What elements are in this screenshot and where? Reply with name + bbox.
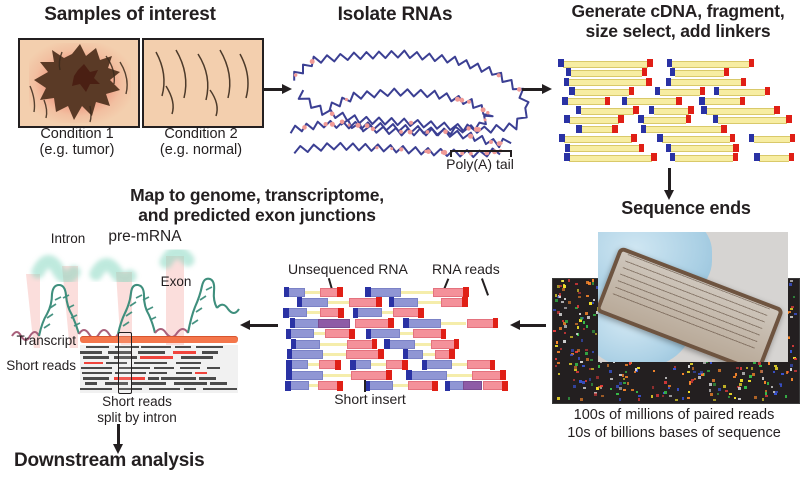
linker-left (670, 153, 676, 161)
rna-base-accent (443, 129, 448, 134)
cdna-fragment (622, 97, 682, 105)
adapter-left (297, 297, 303, 307)
sequencing-cluster-dot (675, 399, 678, 402)
unsequenced-insert (323, 374, 351, 377)
sequencing-cluster-dot (673, 368, 676, 371)
linker-right (651, 153, 657, 161)
sequencing-cluster-dot (607, 364, 610, 367)
sequencing-cluster-dot (557, 362, 560, 365)
skin-hairs-icon (144, 40, 262, 126)
linker-left (566, 68, 572, 76)
sequencing-cluster-dot (577, 305, 580, 308)
paired-read-short-insert (445, 381, 508, 391)
sequencing-cluster-dot (593, 299, 596, 302)
cdna-body (718, 117, 787, 124)
sequencing-cluster-dot (601, 395, 604, 398)
aligned-read-junction (140, 356, 172, 358)
sequencing-cluster-dot (689, 381, 692, 384)
unsequenced-insert (309, 384, 318, 387)
rna-base-accent (408, 130, 412, 134)
read-forward (392, 298, 419, 307)
cdna-fragment (564, 78, 652, 86)
sequencing-cluster-dot (753, 362, 756, 365)
cdna-body (675, 155, 734, 162)
linker-left (649, 106, 655, 114)
sequencing-cluster-dot (754, 396, 757, 399)
arrow-isolate-to-cdna (522, 84, 552, 95)
sequencing-cluster-dot (589, 302, 592, 305)
sequencing-cluster-dot (793, 296, 796, 299)
unsequenced-insert (382, 311, 393, 314)
sequencing-cluster-dot (577, 349, 580, 352)
sequencing-cluster-dot (568, 397, 571, 400)
sequencing-cluster-dot (623, 382, 626, 385)
rna-base-accent (484, 118, 487, 121)
aligned-read (86, 346, 109, 348)
condition-1-detail: (e.g. tumor) (40, 142, 115, 158)
aligned-read (180, 367, 200, 369)
condition-2-name: Condition 2 (164, 126, 237, 142)
sequencing-cluster-dot (585, 349, 588, 352)
linker-right (733, 144, 739, 152)
sequencing-cluster-dot (559, 313, 562, 316)
adapter-right (337, 381, 343, 391)
map-to-genome-heading: Map to genome, transcriptome, and predic… (96, 186, 418, 225)
rna-base-accent (399, 147, 403, 151)
paired-read (284, 287, 343, 297)
rna-base-accent (517, 87, 522, 92)
adapter-left (287, 349, 293, 359)
adapter-left (285, 381, 291, 391)
short-insert-leader-line (364, 380, 366, 392)
paired-read (286, 370, 392, 380)
linker-right (789, 153, 795, 161)
sequencing-cluster-dot (638, 398, 641, 401)
linker-right (774, 106, 780, 114)
cdna-body (704, 98, 740, 105)
sequencing-cluster-dot (693, 371, 696, 374)
adapter-left (366, 329, 372, 339)
cdna-fragment (754, 153, 794, 161)
cdna-body (706, 108, 775, 115)
condition-2-caption: Condition 2(e.g. normal) (138, 126, 264, 158)
sequencing-cluster-dot (652, 386, 655, 389)
unsequenced-insert (423, 353, 434, 356)
aligned-read (202, 351, 219, 353)
sequencing-cluster-dot (598, 365, 601, 368)
sequencing-cluster-dot (580, 361, 583, 364)
paired-read (350, 360, 408, 370)
read-reverse (472, 371, 502, 380)
rna-base-accent (340, 120, 345, 125)
sequencing-cluster-dot (771, 386, 774, 389)
sequencing-cluster-dot (609, 370, 612, 373)
sequencing-cluster-dot (773, 391, 776, 394)
unsequenced-insert (393, 384, 408, 387)
sequencing-cluster-dot (709, 389, 712, 392)
sequencing-cluster-dot (561, 280, 564, 283)
linker-left (562, 97, 568, 105)
sequencing-cluster-dot (717, 393, 720, 396)
sequencing-cluster-dot (710, 393, 713, 396)
cdna-body (581, 126, 612, 133)
linker-left (713, 115, 719, 123)
sequencing-cluster-dot (748, 380, 751, 383)
linker-right (786, 115, 792, 123)
aligned-read (184, 388, 196, 390)
linker-right (733, 153, 739, 161)
sequencing-cluster-dot (762, 377, 765, 380)
cdna-fragment (666, 78, 746, 86)
linker-left (714, 87, 720, 95)
adapter-right (490, 360, 496, 370)
linker-left (657, 134, 663, 142)
sequencing-cluster-dot (768, 362, 771, 365)
sequencing-cluster-dot (616, 385, 619, 388)
sequencing-cluster-dot (583, 387, 586, 390)
adapter-right (337, 287, 343, 297)
sequencing-cluster-dot (625, 371, 628, 374)
adapter-right (454, 339, 460, 349)
sequencing-cluster-dot (596, 376, 599, 379)
sequencing-cluster-dot (749, 375, 752, 378)
unsequenced-insert (401, 291, 433, 294)
adapter-right (372, 339, 378, 349)
adapter-left (286, 360, 292, 370)
read-forward (406, 350, 424, 359)
linker-left (701, 106, 707, 114)
rna-base-accent (375, 146, 378, 149)
aligned-read (176, 362, 202, 364)
adapter-right (493, 318, 499, 328)
condition-1-tissue-swatch (18, 38, 140, 128)
sequencing-cluster-dot (592, 282, 595, 285)
sequencing-cluster-dot (790, 316, 793, 319)
sequencing-cluster-dot (664, 381, 667, 384)
sequencing-cluster-dot (687, 397, 690, 400)
sequencing-cluster-dot (677, 388, 680, 391)
sequencing-cluster-dot (688, 365, 691, 368)
cdna-fragment (564, 115, 624, 123)
linker-left (576, 125, 582, 133)
adapter-left (384, 339, 390, 349)
sequencing-cluster-dot (583, 328, 586, 331)
rna-base-accent (356, 123, 361, 128)
read-reverse (325, 329, 351, 338)
unsequenced-insert (305, 291, 320, 294)
sequencing-cluster-dot (709, 383, 712, 386)
read-forward (294, 340, 321, 349)
sequencing-cluster-dot (562, 320, 565, 323)
linker-left (638, 115, 644, 123)
sequencing-cluster-dot (575, 323, 578, 326)
aligned-read (207, 367, 221, 369)
unsequenced-insert (320, 343, 347, 346)
sequencing-cluster-dot (569, 363, 572, 366)
aligned-read (175, 346, 190, 348)
sequencing-cluster-dot (564, 307, 567, 310)
sequencing-cluster-dot (700, 371, 703, 374)
sequencing-cluster-dot (751, 367, 754, 370)
sequencing-cluster-dot (575, 283, 578, 286)
paired-read (291, 339, 378, 349)
sequencing-cluster-dot (712, 379, 715, 382)
unsequenced-insert (314, 332, 326, 335)
adapter-left (291, 339, 297, 349)
rna-strands-illustration (284, 34, 544, 162)
rna-base-accent (455, 97, 460, 102)
polya-tail-label: Poly(A) tail (432, 157, 528, 173)
sequencing-cluster-dot (578, 357, 581, 360)
paired-reads-illustration (278, 286, 516, 392)
sequencing-cluster-dot (578, 296, 581, 299)
rna-base-accent (365, 123, 370, 128)
pre-mrna-label: pre-mRNA (92, 228, 198, 245)
cdna-fragment (562, 97, 610, 105)
cdna-fragment (670, 153, 739, 161)
sequencing-cluster-dot (781, 373, 784, 376)
read-forward (289, 360, 308, 369)
adapter-right (376, 297, 382, 307)
sequencing-cluster-dot (555, 299, 558, 302)
adapter-right (441, 329, 447, 339)
rna-strand (294, 51, 528, 133)
linker-right (676, 97, 682, 105)
adapter-left (365, 287, 371, 297)
aligned-read (82, 372, 113, 374)
read-reverse (431, 340, 456, 349)
adapter-right (463, 287, 469, 297)
linker-left (569, 87, 575, 95)
linker-right (612, 125, 618, 133)
read-forward (289, 371, 323, 380)
sequencing-cluster-dot (790, 280, 793, 283)
sequencing-cluster-dot (583, 321, 586, 324)
sequencing-cluster-dot (563, 284, 566, 287)
sequencing-cluster-dot (773, 371, 776, 374)
paired-read (285, 381, 343, 391)
intron-label: Intron (38, 231, 98, 246)
sequencing-cluster-dot (790, 368, 793, 371)
read-forward (406, 319, 441, 328)
linker-right (749, 59, 755, 67)
rna-base-accent (310, 59, 315, 64)
aligned-read (138, 351, 165, 353)
cdna-fragment (641, 125, 727, 133)
read-forward (387, 340, 414, 349)
sequencing-cluster-dot (581, 339, 584, 342)
sequencing-cluster-dot (592, 351, 595, 354)
rna-base-accent (481, 107, 486, 112)
aligned-read (80, 388, 112, 390)
sequencing-cluster-dot (610, 378, 613, 381)
samples-heading: Samples of interest (10, 4, 250, 25)
linker-left (564, 115, 570, 123)
adapter-right (418, 308, 424, 318)
linker-left (558, 59, 564, 67)
read-reverse (346, 350, 381, 359)
adapter-right (462, 297, 468, 307)
linker-left (559, 134, 565, 142)
sequencing-cluster-dot (738, 398, 741, 401)
cdna-fragment (576, 125, 617, 133)
sequencing-cluster-dot (746, 367, 749, 370)
cdna-body (672, 61, 750, 68)
sequencing-cluster-dot (589, 378, 592, 381)
adapter-left (350, 360, 356, 370)
paired-read (384, 339, 459, 349)
sequencing-cluster-dot (687, 371, 690, 374)
cdna-body (759, 155, 789, 162)
rna-base-accent (330, 122, 335, 127)
cdna-body (569, 79, 647, 86)
linker-right (629, 87, 635, 95)
read-reverse (349, 298, 379, 307)
linker-right (633, 106, 639, 114)
sequencing-cluster-dot (752, 373, 755, 376)
rna-base-accent (409, 121, 413, 125)
read-forward (353, 360, 371, 369)
aligned-read (149, 372, 168, 374)
sequencing-cluster-dot (692, 367, 695, 370)
sequencing-cluster-dot (564, 298, 567, 301)
sequencing-cluster-dot (760, 370, 763, 373)
rna-base-accent (497, 73, 501, 77)
rna-base-accent (302, 125, 307, 130)
cdna-fragment (699, 97, 745, 105)
adapter-right (502, 381, 508, 391)
exon-label: Exon (148, 274, 204, 289)
sequencing-cluster-dot (682, 373, 685, 376)
transcript-label: Transcript (2, 333, 76, 348)
aligned-read-junction (173, 351, 196, 353)
condition-2-detail: (e.g. normal) (160, 142, 242, 158)
cdna-body (571, 70, 643, 77)
linker-left (564, 153, 570, 161)
sequencing-cluster-dot (555, 345, 558, 348)
paired-read (422, 360, 495, 370)
aligned-read (196, 346, 223, 348)
adapter-left (353, 308, 359, 318)
aligned-read (174, 382, 206, 384)
short-reads-label: Short reads (2, 358, 76, 373)
read-forward (287, 288, 306, 297)
unsequenced-insert (308, 363, 319, 366)
linker-right (730, 134, 736, 142)
sequencing-cluster-dot (556, 341, 559, 344)
rna-base-accent (399, 130, 403, 134)
cdna-body (671, 145, 734, 152)
aligned-read (83, 377, 109, 379)
rna-base-accent (486, 111, 489, 114)
sequencing-cluster-dot (587, 316, 590, 319)
rna-base-accent (489, 140, 493, 144)
sequencing-cluster-dot (580, 317, 583, 320)
rna-base-accent (424, 150, 427, 153)
sequencing-cluster-dot (619, 398, 622, 401)
unsequenced-insert (415, 343, 432, 346)
rna-base-accent (474, 127, 479, 132)
sequencing-cluster-dot (740, 367, 743, 370)
sequencing-cluster-dot (794, 358, 797, 361)
linker-left (576, 106, 582, 114)
sequencing-cluster-dot (785, 395, 788, 398)
cdna-body (660, 89, 701, 96)
unsequenced-insert (447, 374, 473, 377)
sequencing-cluster-dot (634, 371, 637, 374)
sequencing-cluster-dot (589, 368, 592, 371)
sequencing-cluster-dot (553, 309, 556, 312)
flowcell-photograph (598, 232, 788, 362)
sequencing-cluster-dot (592, 302, 595, 305)
linker-right (605, 97, 611, 105)
sequencing-cluster-dot (738, 387, 741, 390)
aligned-read (83, 356, 109, 358)
sequencing-cluster-dot (765, 392, 768, 395)
sequencing-cluster-dot (557, 351, 560, 354)
linker-left (749, 134, 755, 142)
read-forward (288, 381, 309, 390)
cdna-body (569, 155, 652, 162)
aligned-read (148, 377, 160, 379)
sequencing-cluster-dot (636, 391, 639, 394)
bases-count: 10s of billions bases of sequence (567, 425, 781, 441)
sequencing-cluster-dot (742, 372, 745, 375)
sequencing-cluster-dot (571, 349, 574, 352)
cdna-body (570, 145, 640, 152)
linker-left (564, 78, 570, 86)
sequencing-cluster-dot (557, 296, 560, 299)
adapter-left (389, 297, 395, 307)
rnaseq-workflow-figure: Samples of interest Condition 1(e.g. tum… (0, 0, 800, 478)
paired-read (286, 329, 355, 339)
sequencing-cluster-dot (616, 393, 619, 396)
linker-left (699, 97, 705, 105)
aligned-read (80, 351, 102, 353)
sequencing-cluster-dot (779, 383, 782, 386)
sequencing-cluster-dot (623, 378, 626, 381)
unsequenced-insert (452, 363, 467, 366)
linker-right (647, 59, 653, 67)
rna-base-accent (348, 124, 351, 127)
sequencing-cluster-dot (557, 397, 560, 400)
intron-split-highlight-box (118, 332, 132, 394)
sequencing-cluster-dot (561, 301, 564, 304)
linker-right (740, 97, 746, 105)
adapter-right (500, 370, 506, 380)
aligned-read (181, 356, 213, 358)
cdna-body (567, 98, 605, 105)
condition-2-tissue-swatch (142, 38, 264, 128)
sequencing-cluster-dot (622, 374, 625, 377)
rna-base-accent (441, 150, 445, 154)
aligned-read (85, 382, 97, 384)
rna-base-accent (330, 112, 335, 117)
read-reverse (467, 360, 492, 369)
read-reverse (467, 319, 496, 328)
unsequenced-insert (323, 353, 346, 356)
sequencing-cluster-dot (560, 348, 563, 351)
read-reverse (413, 329, 444, 338)
cdna-body (627, 98, 677, 105)
read-reverse (393, 308, 421, 317)
cdna-body (662, 136, 730, 143)
sequencing-cluster-dot (576, 333, 579, 336)
sequencing-cluster-dot (619, 382, 622, 385)
cdna-fragment (670, 68, 730, 76)
linker-right (790, 134, 796, 142)
linker-right (688, 106, 694, 114)
